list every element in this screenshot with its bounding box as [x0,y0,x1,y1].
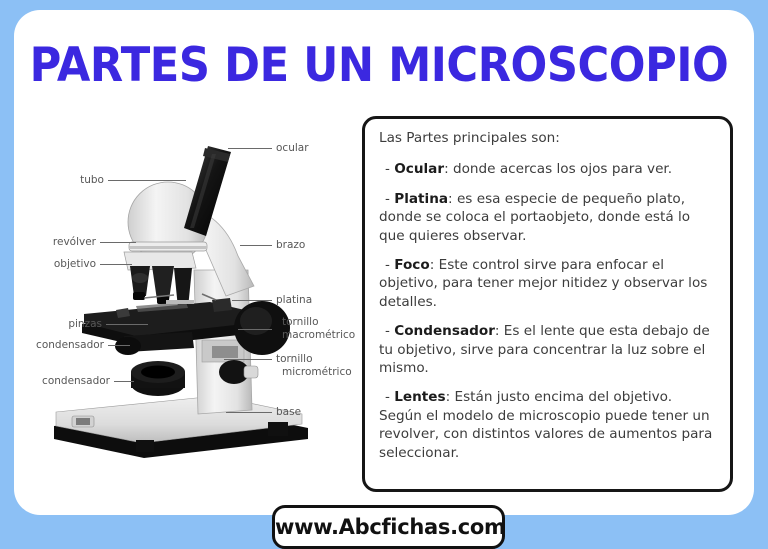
panel-item-ocular: - Ocular: donde acercas los ojos para ve… [379,160,716,178]
dash-lentes: - [385,389,394,405]
microscope-base [54,396,308,458]
label-tornillo-macro: tornillo [282,316,319,329]
leader-ocular [228,148,272,149]
dash-ocular: - [385,161,394,177]
leader-revolver [100,242,136,243]
label-tubo: tubo [32,174,104,187]
leader-condensador-1 [108,345,130,346]
term-lentes: Lentes [394,389,445,405]
leader-platina [232,300,272,301]
label-brazo: brazo [276,239,305,252]
page-title: PARTES DE UN MICROSCOPIO [30,38,711,93]
poster-page: PARTES DE UN MICROSCOPIO [0,0,768,543]
microscope-diagram: tubo revólver objetivo pinzas condensado… [16,110,346,460]
term-ocular: Ocular [394,161,444,177]
label-macrometrico: macrométrico [282,329,355,342]
desc-ocular: : donde acercas los ojos para ver. [444,161,672,177]
info-panel: Las Partes principales son: - Ocular: do… [362,116,733,492]
panel-item-lentes: - Lentes: Están justo encima del objetiv… [379,388,716,462]
leader-base [226,412,272,413]
label-condensador-2: condensador [28,375,110,388]
leader-pinzas [106,324,148,325]
leader-brazo [240,245,272,246]
leader-tubo [108,180,186,181]
panel-intro: Las Partes principales son: [379,129,716,147]
label-revolver: revólver [32,236,96,249]
term-platina: Platina [394,191,448,207]
leader-micrometrico [224,359,272,360]
dash-condensador: - [385,323,394,339]
site-url-badge[interactable]: www.Abcfichas.com [272,505,505,549]
fine-focus-knob [219,360,258,384]
dash-foco: - [385,257,394,273]
panel-item-foco: - Foco: Este control sirve para enfocar … [379,256,716,311]
term-condensador: Condensador [394,323,495,339]
panel-item-platina: - Platina: es esa especie de pequeño pla… [379,190,716,245]
site-url-text: www.Abcfichas.com [275,508,502,546]
leader-objetivo [100,264,132,265]
leader-condensador-2 [114,381,134,382]
condenser-lower [131,361,185,396]
panel-item-condensador: - Condensador: Es el lente que esta deba… [379,322,716,377]
label-pinzas: pinzas [32,318,102,331]
label-tornillo-micro: tornillo [276,353,313,366]
label-objetivo: objetivo [32,258,96,271]
leader-macrometrico [238,329,272,330]
label-base: base [276,406,301,419]
term-foco: Foco [394,257,429,273]
label-ocular: ocular [276,142,309,155]
label-platina: platina [276,294,312,307]
label-micrometrico: micrométrico [282,366,352,379]
label-condensador-1: condensador [22,339,104,352]
dash-platina: - [385,191,394,207]
